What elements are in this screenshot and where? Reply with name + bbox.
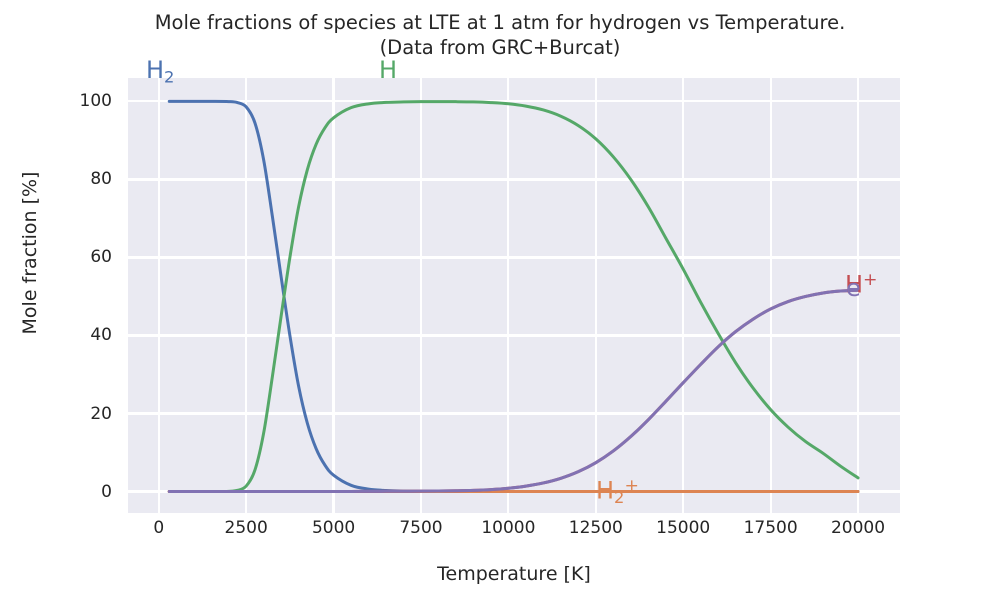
x-tick-20000: 20000 — [831, 518, 885, 538]
h-label: H — [379, 58, 397, 82]
x-tick-12500: 12500 — [569, 518, 623, 538]
y-tick-40: 40 — [0, 325, 112, 345]
h2plus-label: H2+ — [596, 478, 639, 506]
y-tick-20: 20 — [0, 404, 112, 424]
chart-figure: Mole fractions of species at LTE at 1 at… — [0, 0, 1000, 600]
y-tick-60: 60 — [0, 247, 112, 267]
x-tick-15000: 15000 — [656, 518, 710, 538]
x-tick-0: 0 — [153, 518, 164, 538]
y-tick-80: 80 — [0, 169, 112, 189]
y-axis-label: Mole fraction [%] — [19, 53, 41, 453]
h2-label: H2 — [146, 58, 174, 86]
series-line-h — [169, 102, 858, 492]
plot-area — [128, 78, 900, 513]
data-curves — [128, 78, 900, 513]
series-line-h2 — [169, 101, 858, 491]
x-tick-7500: 7500 — [399, 518, 442, 538]
y-tick-0: 0 — [0, 482, 112, 502]
x-tick-10000: 10000 — [481, 518, 535, 538]
electron-label: e — [846, 276, 861, 300]
x-tick-2500: 2500 — [225, 518, 268, 538]
y-tick-100: 100 — [0, 91, 112, 111]
x-axis-label: Temperature [K] — [128, 563, 900, 585]
chart-title: Mole fractions of species at LTE at 1 at… — [0, 10, 1000, 60]
x-tick-17500: 17500 — [744, 518, 798, 538]
x-tick-5000: 5000 — [312, 518, 355, 538]
